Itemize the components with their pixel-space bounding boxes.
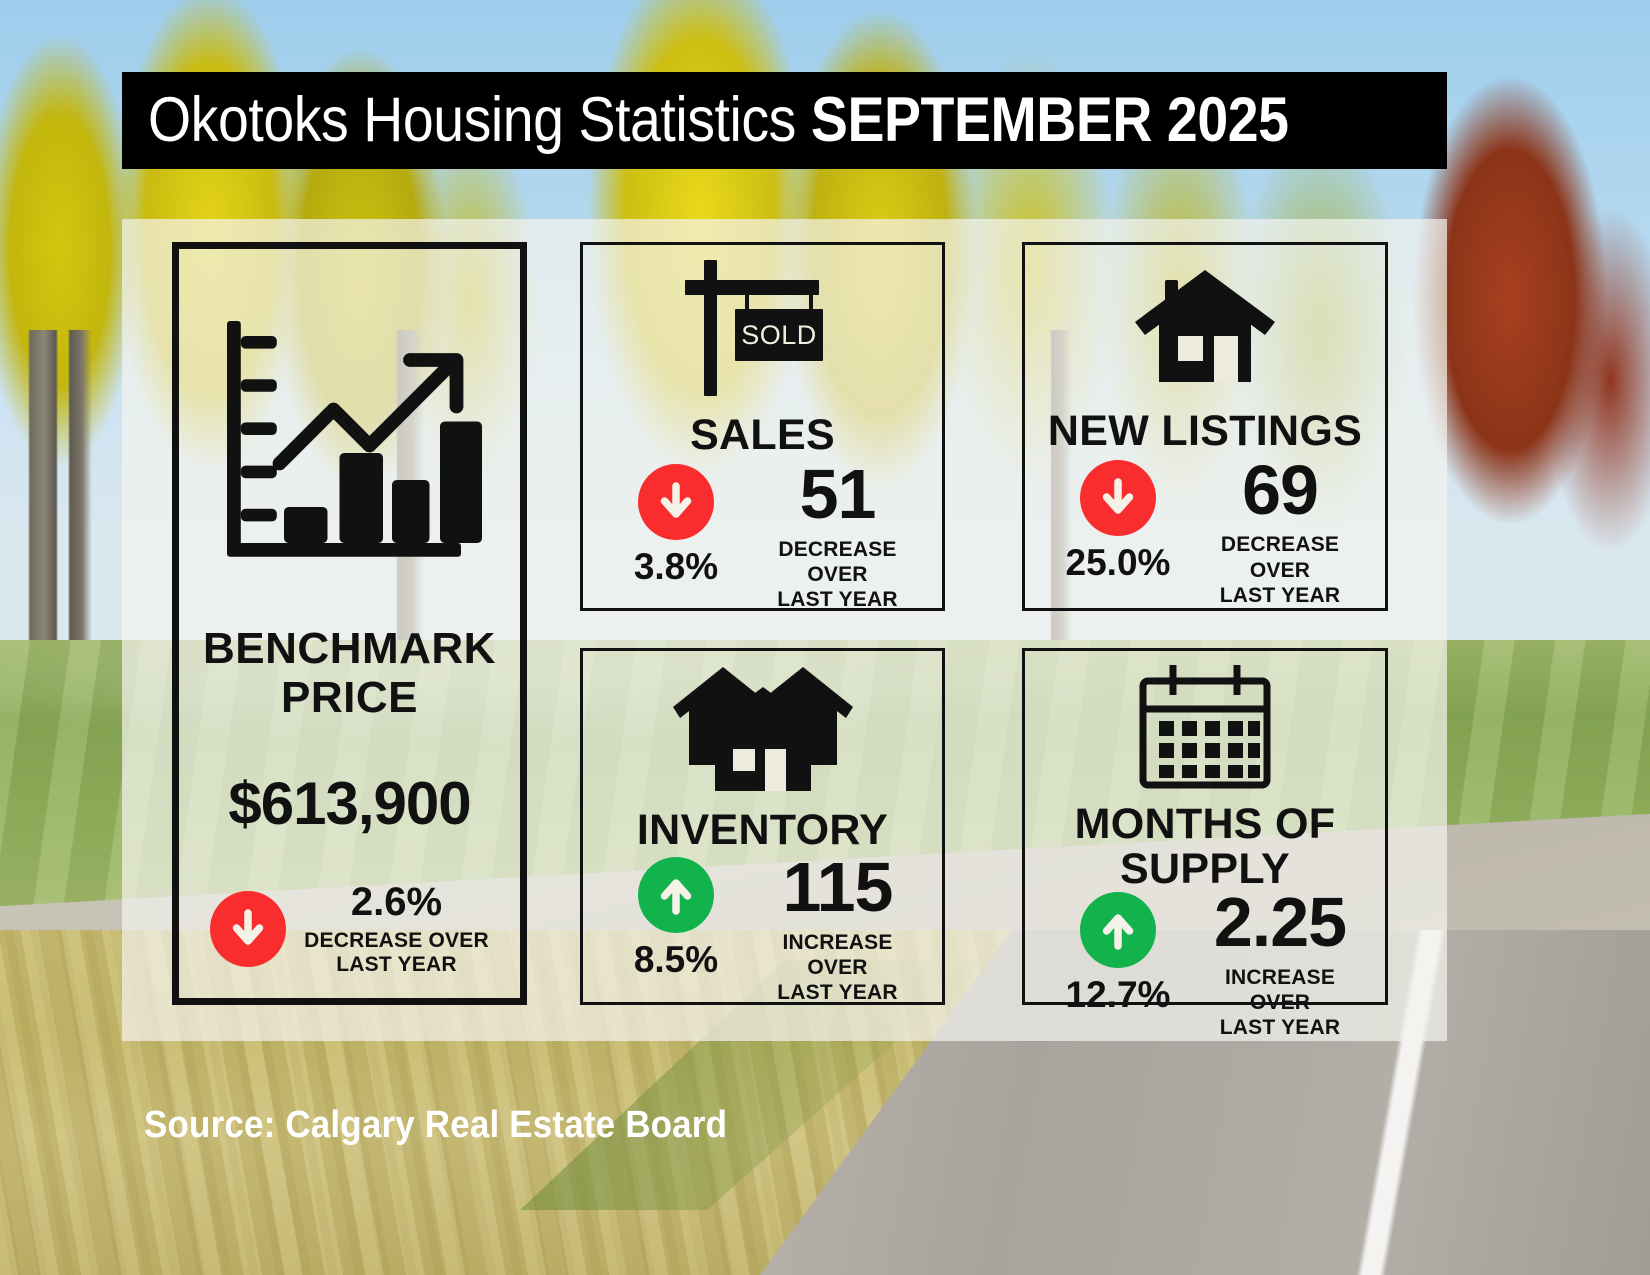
months-of-supply-title: MONTHS OF SUPPLY — [1075, 802, 1336, 892]
months-of-supply-value: 2.25 — [1214, 888, 1346, 957]
sold-sign-icon: SOLD — [683, 254, 843, 407]
sales-title: SALES — [690, 413, 835, 458]
page-title: Okotoks Housing Statistics SEPTEMBER 202… — [148, 89, 1289, 152]
arrow-up-icon — [1080, 892, 1156, 968]
months-of-supply-change-caption: INCREASE OVER LAST YEAR — [1193, 965, 1367, 1041]
benchmark-caption-line1: DECREASE OVER — [304, 929, 489, 953]
benchmark-caption-line2: LAST YEAR — [304, 953, 489, 977]
inventory-value: 115 — [783, 853, 893, 922]
benchmark-change-caption: DECREASE OVER LAST YEAR — [304, 929, 489, 977]
panel-new-listings: NEW LISTINGS 25.0% 69 DECREASE OVER LAST… — [1022, 242, 1388, 611]
panel-months-of-supply: MONTHS OF SUPPLY 12.7% 2.25 INCREASE OVE… — [1022, 648, 1388, 1005]
arrow-down-icon — [210, 891, 286, 967]
sales-change-percent: 3.8% — [634, 546, 718, 588]
panel-inventory: INVENTORY 8.5% 115 INCREASE OVER LAST YE… — [580, 648, 945, 1005]
inventory-caption-line1: INCREASE OVER — [751, 930, 924, 980]
months-of-supply-caption-line2: LAST YEAR — [1193, 1015, 1367, 1040]
benchmark-price-value: $613,900 — [228, 769, 470, 838]
sales-caption-line1: DECREASE OVER — [751, 537, 924, 587]
calendar-icon — [1137, 661, 1273, 798]
new-listings-caption-line1: DECREASE OVER — [1193, 532, 1367, 582]
new-listings-caption-line2: LAST YEAR — [1193, 583, 1367, 608]
benchmark-change: 2.6% DECREASE OVER LAST YEAR — [210, 882, 489, 977]
arrow-down-icon — [638, 464, 714, 540]
sales-value: 51 — [800, 460, 876, 529]
panel-benchmark-price: BENCHMARK PRICE $613,900 2.6% DECREASE O… — [172, 242, 527, 1005]
panel-sales: SOLD SALES 3.8% 51 DECREA — [580, 242, 945, 611]
house-icon — [1129, 264, 1281, 403]
new-listings-title: NEW LISTINGS — [1048, 409, 1362, 454]
new-listings-change-caption: DECREASE OVER LAST YEAR — [1193, 532, 1367, 608]
inventory-change-percent: 8.5% — [634, 939, 718, 981]
benchmark-price-label: BENCHMARK PRICE — [203, 624, 496, 723]
infographic-canvas: Okotoks Housing Statistics SEPTEMBER 202… — [0, 0, 1650, 1275]
benchmark-label-line1: BENCHMARK — [203, 624, 496, 673]
arrow-down-icon — [1080, 460, 1156, 536]
bar-chart-growth-icon — [200, 297, 500, 602]
benchmark-change-percent: 2.6% — [304, 882, 489, 922]
months-of-supply-title-line1: MONTHS OF — [1075, 802, 1336, 847]
benchmark-label-line2: PRICE — [203, 673, 496, 722]
new-listings-value: 69 — [1242, 456, 1318, 525]
inventory-change-caption: INCREASE OVER LAST YEAR — [751, 930, 924, 1006]
sales-caption-line2: LAST YEAR — [751, 587, 924, 612]
inventory-caption-line2: LAST YEAR — [751, 980, 924, 1005]
months-of-supply-change-percent: 12.7% — [1066, 974, 1171, 1016]
svg-text:SOLD: SOLD — [741, 320, 817, 350]
page-title-bold: SEPTEMBER 2025 — [811, 85, 1289, 155]
new-listings-change-percent: 25.0% — [1066, 542, 1171, 584]
three-houses-icon — [667, 661, 859, 802]
sales-change-caption: DECREASE OVER LAST YEAR — [751, 537, 924, 613]
inventory-title: INVENTORY — [637, 808, 888, 853]
months-of-supply-caption-line1: INCREASE OVER — [1193, 965, 1367, 1015]
arrow-up-icon — [638, 857, 714, 933]
title-bar: Okotoks Housing Statistics SEPTEMBER 202… — [122, 72, 1447, 169]
page-title-light: Okotoks Housing Statistics — [148, 85, 811, 155]
source-caption: Source: Calgary Real Estate Board — [144, 1104, 727, 1147]
